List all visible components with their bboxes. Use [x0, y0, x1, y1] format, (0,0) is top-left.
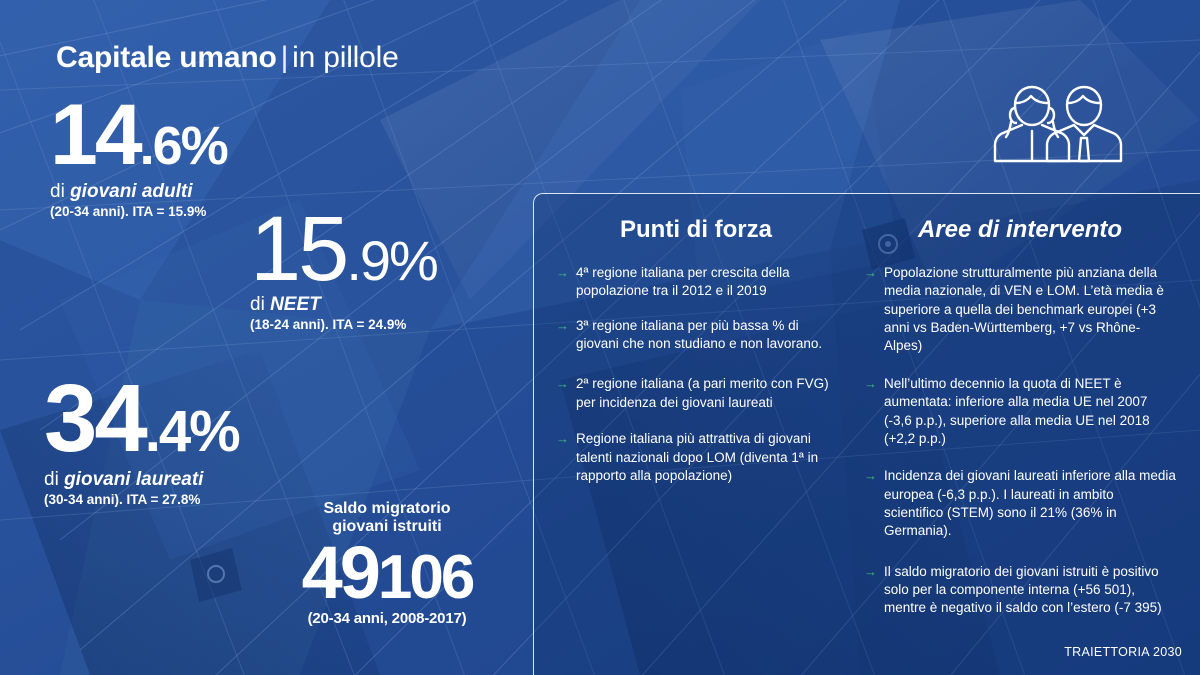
list-item: →4ª regione italiana per crescita della … [556, 264, 836, 301]
stat-giovani-laureati: 34.4% di giovani laureati (30-34 anni). … [44, 375, 239, 507]
stat-label-emph: giovani adulti [70, 181, 192, 202]
saldo-value-thousands: 49 [302, 531, 378, 614]
stat-label: di giovani laureati [44, 469, 239, 491]
saldo-caption: (20-34 anni, 2008-2017) [262, 610, 512, 627]
stat-label-lead: di [44, 469, 64, 490]
arrow-icon: → [556, 318, 569, 335]
list-aree-di-intervento: →Popolazione strutturalmente più anziana… [864, 264, 1176, 618]
arrow-icon: → [864, 265, 877, 282]
list-punti-di-forza: →4ª regione italiana per crescita della … [556, 264, 836, 485]
list-item-text: Popolazione strutturalmente più anziana … [884, 265, 1164, 353]
heading-aree-di-intervento: Aree di intervento [864, 216, 1176, 244]
man-icon [1047, 87, 1121, 161]
saldo-value: 49106 [262, 538, 512, 608]
stat-saldo-migratorio: Saldo migratorio giovani istruiti 49106 … [262, 500, 512, 627]
list-item-text: Il saldo migratorio dei giovani istruiti… [884, 564, 1162, 616]
heading-punti-di-forza: Punti di forza [556, 216, 836, 244]
two-people-icon [975, 78, 1143, 175]
stat-value: 34.4% [44, 375, 239, 463]
list-item-text: 3ª regione italiana per più bassa % di g… [576, 318, 822, 351]
list-item-text: Regione italiana più attrattiva di giova… [576, 431, 818, 483]
stat-decimal: .4% [145, 399, 239, 464]
list-item: →Incidenza dei giovani laureati inferior… [864, 467, 1176, 540]
list-item: →Regione italiana più attrattiva di giov… [556, 430, 836, 485]
stat-label-lead: di [50, 181, 70, 202]
stat-value: 14.6% [50, 96, 227, 175]
stat-caption: (18-24 anni). ITA = 24.9% [250, 317, 437, 332]
woman-icon [995, 87, 1069, 161]
list-item-text: 4ª regione italiana per crescita della p… [576, 265, 790, 298]
list-item-text: 2ª regione italiana (a pari merito con F… [576, 376, 829, 409]
list-item-text: Incidenza dei giovani laureati inferiore… [884, 468, 1176, 538]
saldo-label-line2: giovani istruiti [262, 518, 512, 536]
list-item: →3ª regione italiana per più bassa % di … [556, 317, 836, 354]
slide-root: Capitale umano|in pillole [0, 0, 1200, 675]
stat-decimal: .9% [346, 229, 437, 292]
page-title: Capitale umano|in pillole [56, 40, 399, 76]
saldo-value-units: 106 [378, 543, 472, 612]
title-light: in pillole [292, 41, 398, 74]
stat-neet: 15.9% di NEET (18-24 anni). ITA = 24.9% [250, 207, 437, 332]
stat-whole: 14 [50, 87, 140, 183]
arrow-icon: → [556, 431, 569, 448]
stat-label: di giovani adulti [50, 181, 227, 203]
list-item: →Il saldo migratorio dei giovani istruit… [864, 563, 1176, 618]
title-bold: Capitale umano [56, 41, 277, 74]
insights-panel: Punti di forza →4ª regione italiana per … [533, 193, 1200, 675]
people-icon-graphic [975, 78, 1143, 170]
list-item: →2ª regione italiana (a pari merito con … [556, 375, 836, 412]
arrow-icon: → [864, 564, 877, 581]
list-item: →Popolazione strutturalmente più anziana… [864, 264, 1176, 356]
stat-label-emph: NEET [270, 294, 321, 315]
title-separator: | [277, 41, 293, 74]
arrow-icon: → [556, 376, 569, 393]
stat-value: 15.9% [250, 207, 437, 292]
footer-label: TRAIETTORIA 2030 [1064, 645, 1182, 659]
saldo-label-line1: Saldo migratorio [262, 500, 512, 518]
arrow-icon: → [864, 376, 877, 393]
stat-giovani-adulti: 14.6% di giovani adulti (20-34 anni). IT… [50, 96, 227, 219]
stat-caption: (20-34 anni). ITA = 15.9% [50, 204, 227, 219]
stat-label-emph: giovani laureati [64, 469, 203, 490]
stat-decimal: .6% [140, 116, 227, 176]
arrow-icon: → [864, 468, 877, 485]
list-item-text: Nell’ultimo decennio la quota di NEET è … [884, 376, 1150, 446]
stat-label-lead: di [250, 294, 270, 315]
stat-whole: 34 [44, 365, 145, 472]
saldo-label: Saldo migratorio giovani istruiti [262, 500, 512, 536]
arrow-icon: → [556, 265, 569, 282]
list-item: →Nell’ultimo decennio la quota di NEET è… [864, 375, 1176, 448]
column-punti-di-forza: Punti di forza →4ª regione italiana per … [556, 216, 846, 675]
stat-whole: 15 [250, 198, 346, 300]
column-aree-di-intervento: Aree di intervento →Popolazione struttur… [846, 216, 1176, 675]
stat-caption: (30-34 anni). ITA = 27.8% [44, 492, 239, 507]
